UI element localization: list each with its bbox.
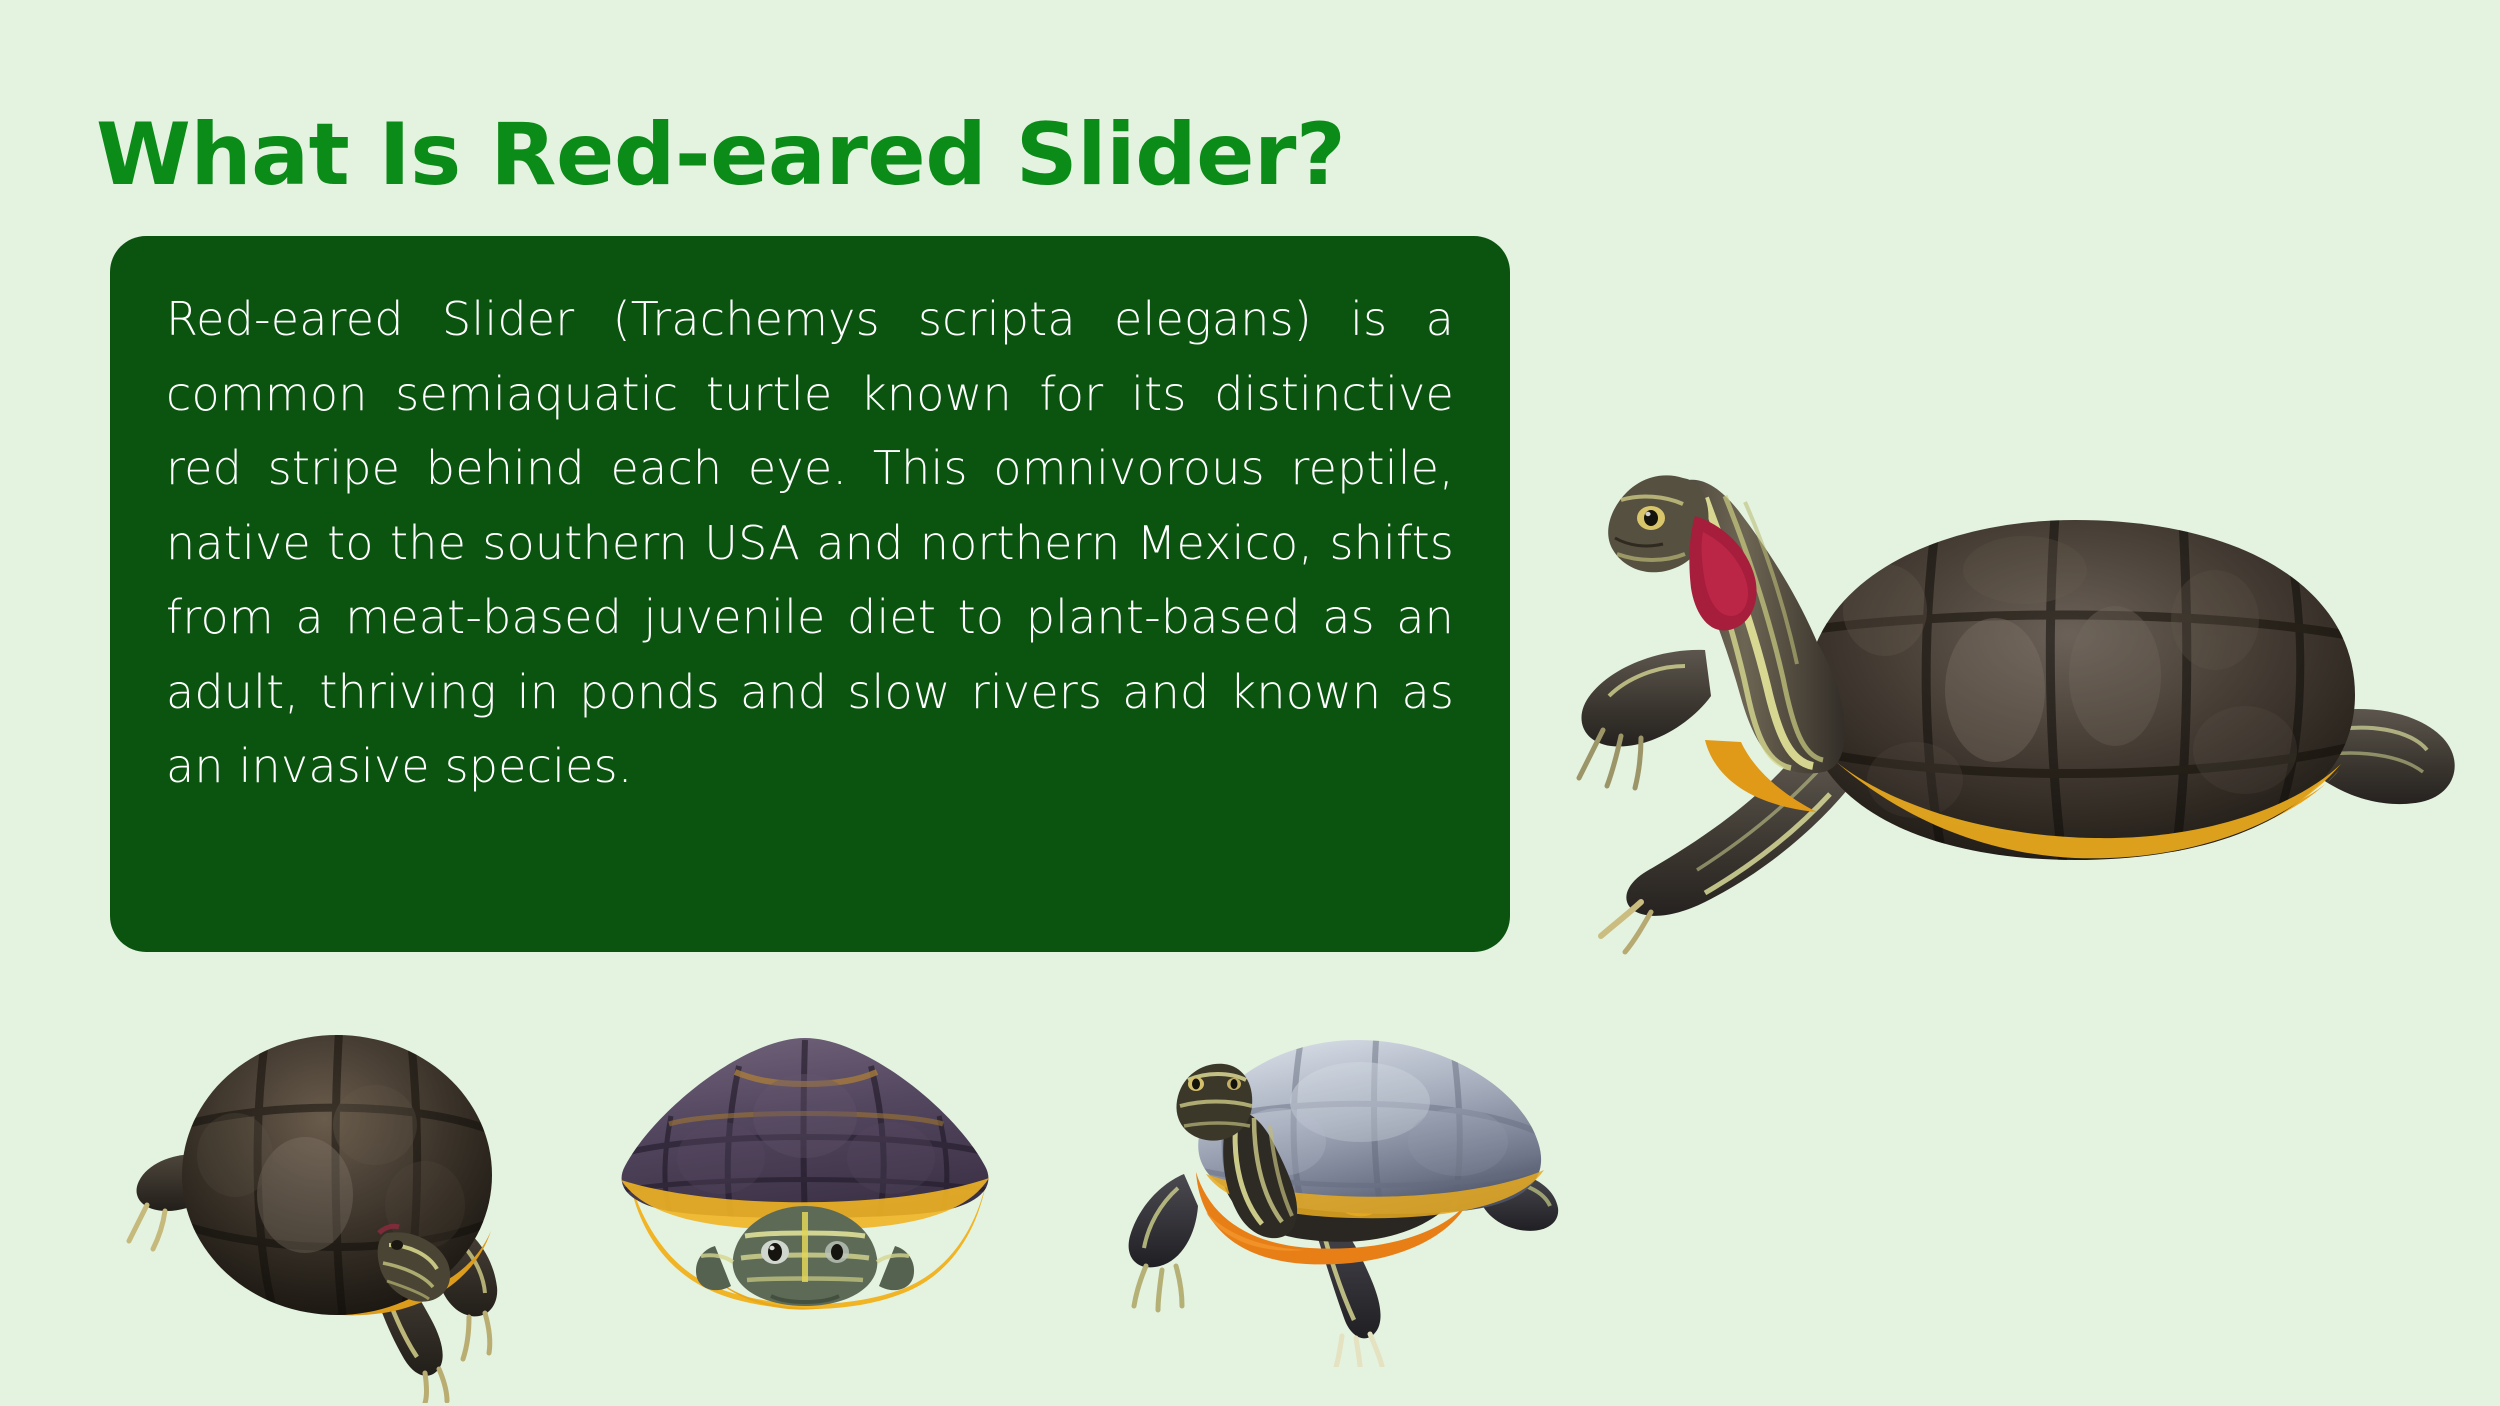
red-eared-slider-photo-2 (605, 1020, 1005, 1320)
red-eared-slider-main-photo (1555, 450, 2500, 960)
info-card: Red-eared Slider (Trachemys scripta eleg… (110, 236, 1510, 952)
red-eared-slider-photo-3 (1110, 1022, 1560, 1367)
page-title: What Is Red-eared Slider? (96, 110, 1345, 200)
red-eared-slider-photo-1 (125, 1005, 545, 1403)
slide-canvas: What Is Red-eared Slider? Red-eared Slid… (0, 0, 2500, 1406)
info-card-body-text: Red-eared Slider (Trachemys scripta eleg… (166, 282, 1454, 804)
